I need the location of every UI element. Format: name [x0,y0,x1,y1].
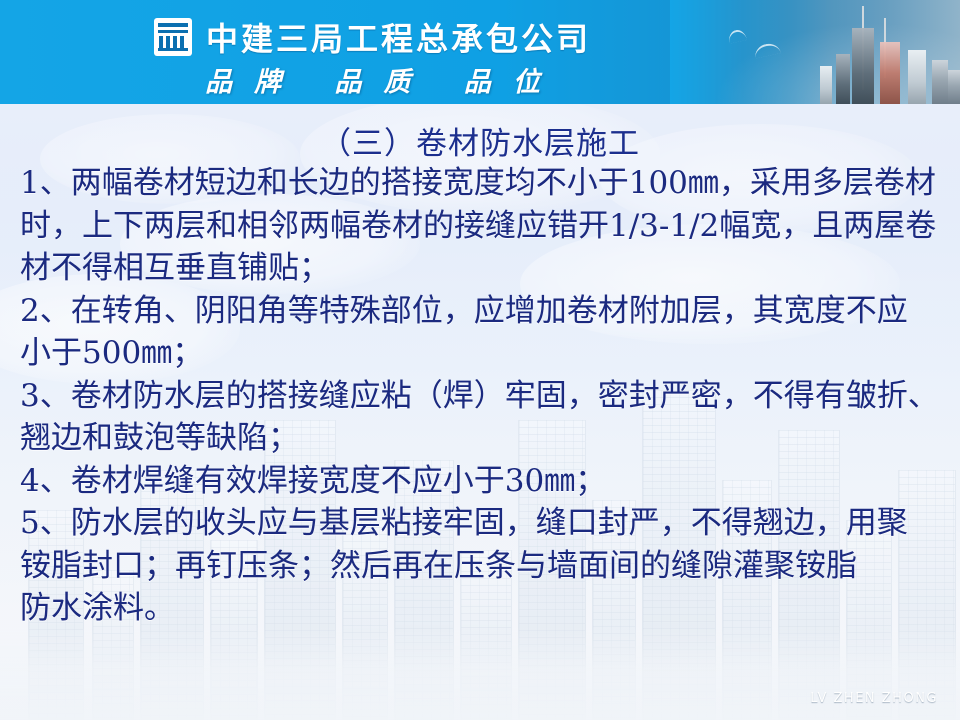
text-line: 翘边和鼓泡等缺陷； [20,417,946,460]
slide-body: （三）卷材防水层施工 1、两幅卷材短边和长边的搭接宽度均不小于100㎜，采用多层… [0,104,960,720]
company-logo-row: 中建三局工程总承包公司 [0,14,745,60]
text-line: 2、在转角、阴阳角等特殊部位，应增加卷材附加层，其宽度不应 [20,290,946,333]
text-line: 铵脂封口；再钉压条；然后再在压条与墙面间的缝隙灌聚铵脂 [20,545,946,588]
bird-icon [753,41,781,58]
text-line: 材不得相互垂直铺贴； [20,247,946,290]
text-line: 小于500㎜； [20,332,946,375]
company-slogan: 品牌 品质 品位 [0,60,745,99]
text-line: 防水涂料。 [20,587,946,630]
page-title: （三）卷材防水层施工 [0,118,960,163]
footer-watermark: LV ZHEN ZHONG [810,691,938,706]
text-line: 时，上下两层和相邻两幅卷材的接缝应错开1/3-1/2幅宽，且两屋卷 [20,205,946,248]
header-banner: 中建三局工程总承包公司 品牌 品质 品位 [0,0,960,104]
text-line: 5、防水层的收头应与基层粘接牢固，缝口封严，不得翘边，用聚 [20,502,946,545]
slide-content: （三）卷材防水层施工 1、两幅卷材短边和长边的搭接宽度均不小于100㎜，采用多层… [0,104,960,720]
company-name: 中建三局工程总承包公司 [206,14,591,60]
building-logo-icon [154,18,192,56]
text-line: 1、两幅卷材短边和长边的搭接宽度均不小于100㎜，采用多层卷材 [20,162,946,205]
text-line: 4、卷材焊缝有效焊接宽度不应小于30㎜； [20,460,946,503]
slide-root: 中建三局工程总承包公司 品牌 品质 品位 [0,0,960,720]
body-text-list: 1、两幅卷材短边和长边的搭接宽度均不小于100㎜，采用多层卷材 时，上下两层和相… [20,162,946,630]
text-line: 3、卷材防水层的搭接缝应粘（焊）牢固，密封严密，不得有皱折、 [20,375,946,418]
